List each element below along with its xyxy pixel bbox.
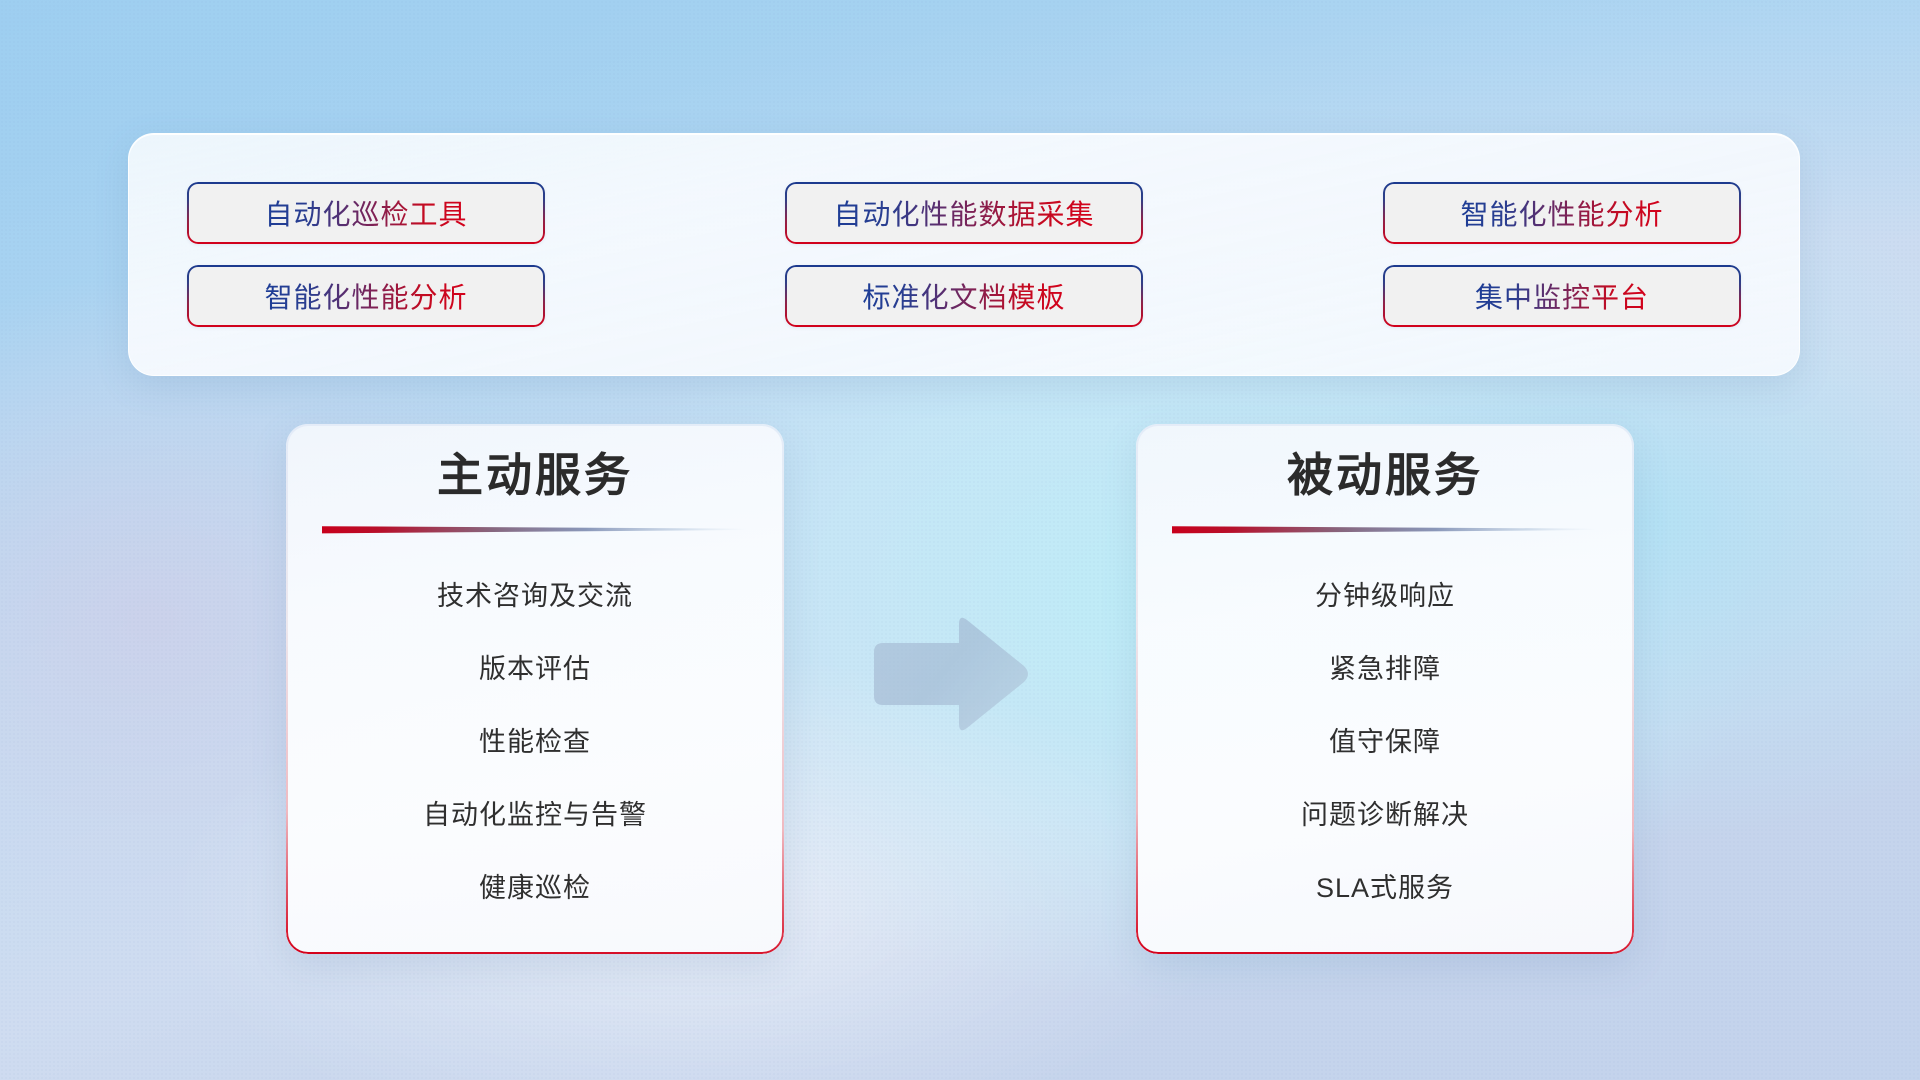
service-list-item: 技术咨询及交流: [437, 569, 633, 624]
capability-row-2: 智能化性能分析 标准化文档模板 集中监控平台: [187, 265, 1741, 327]
capability-pill-label: 自动化性能数据采集: [833, 193, 1094, 233]
capability-pill-standardized-doc-template[interactable]: 标准化文档模板: [785, 265, 1143, 327]
capability-pill-label: 智能化性能分析: [264, 276, 467, 316]
service-list-item: 问题诊断解决: [1301, 788, 1469, 843]
capability-pill-intelligent-performance-analysis[interactable]: 智能化性能分析: [1383, 182, 1741, 244]
gradient-divider: [322, 525, 748, 534]
service-list-item: 值守保障: [1329, 715, 1441, 770]
service-list-item: 版本评估: [479, 642, 591, 697]
service-card-proactive: 主动服务 技术咨询及交流 版本评估 性能检查: [286, 424, 784, 954]
capability-pill-label: 智能化性能分析: [1460, 193, 1663, 233]
service-list-item: 紧急排障: [1329, 642, 1441, 697]
capability-pill-label: 自动化巡检工具: [264, 193, 467, 233]
gradient-divider: [1172, 525, 1598, 534]
capability-pill-centralized-monitoring-platform[interactable]: 集中监控平台: [1383, 265, 1741, 327]
capability-pill-intelligent-performance-analysis-2[interactable]: 智能化性能分析: [187, 265, 545, 327]
capability-pill-automated-performance-collection[interactable]: 自动化性能数据采集: [785, 182, 1143, 244]
service-list-item: 性能检查: [479, 715, 591, 770]
flow-arrow-right-icon: [866, 612, 1031, 737]
service-list-item: 分钟级响应: [1315, 569, 1455, 624]
service-list-item: SLA式服务: [1316, 861, 1454, 916]
capability-panel: 自动化巡检工具 自动化性能数据采集 智能化性能分析 智能化性能分析 标准化文档模…: [128, 133, 1800, 376]
service-list-item: 健康巡检: [479, 861, 591, 916]
capability-row-1: 自动化巡检工具 自动化性能数据采集 智能化性能分析: [187, 182, 1741, 244]
service-card-reactive: 被动服务 分钟级响应 紧急排障 值守保障: [1136, 424, 1634, 954]
capability-pill-label: 标准化文档模板: [862, 276, 1065, 316]
capability-pill-label: 集中监控平台: [1475, 276, 1649, 316]
service-list-item: 自动化监控与告警: [423, 788, 647, 843]
capability-pill-automated-inspection-tool[interactable]: 自动化巡检工具: [187, 182, 545, 244]
service-card-title: 被动服务: [1287, 452, 1483, 498]
service-item-list: 分钟级响应 紧急排障 值守保障 问题诊断解决 SLA式服务: [1136, 560, 1634, 925]
service-item-list: 技术咨询及交流 版本评估 性能检查 自动化监控与告警 健康巡检: [286, 560, 784, 925]
service-card-title: 主动服务: [437, 452, 633, 498]
